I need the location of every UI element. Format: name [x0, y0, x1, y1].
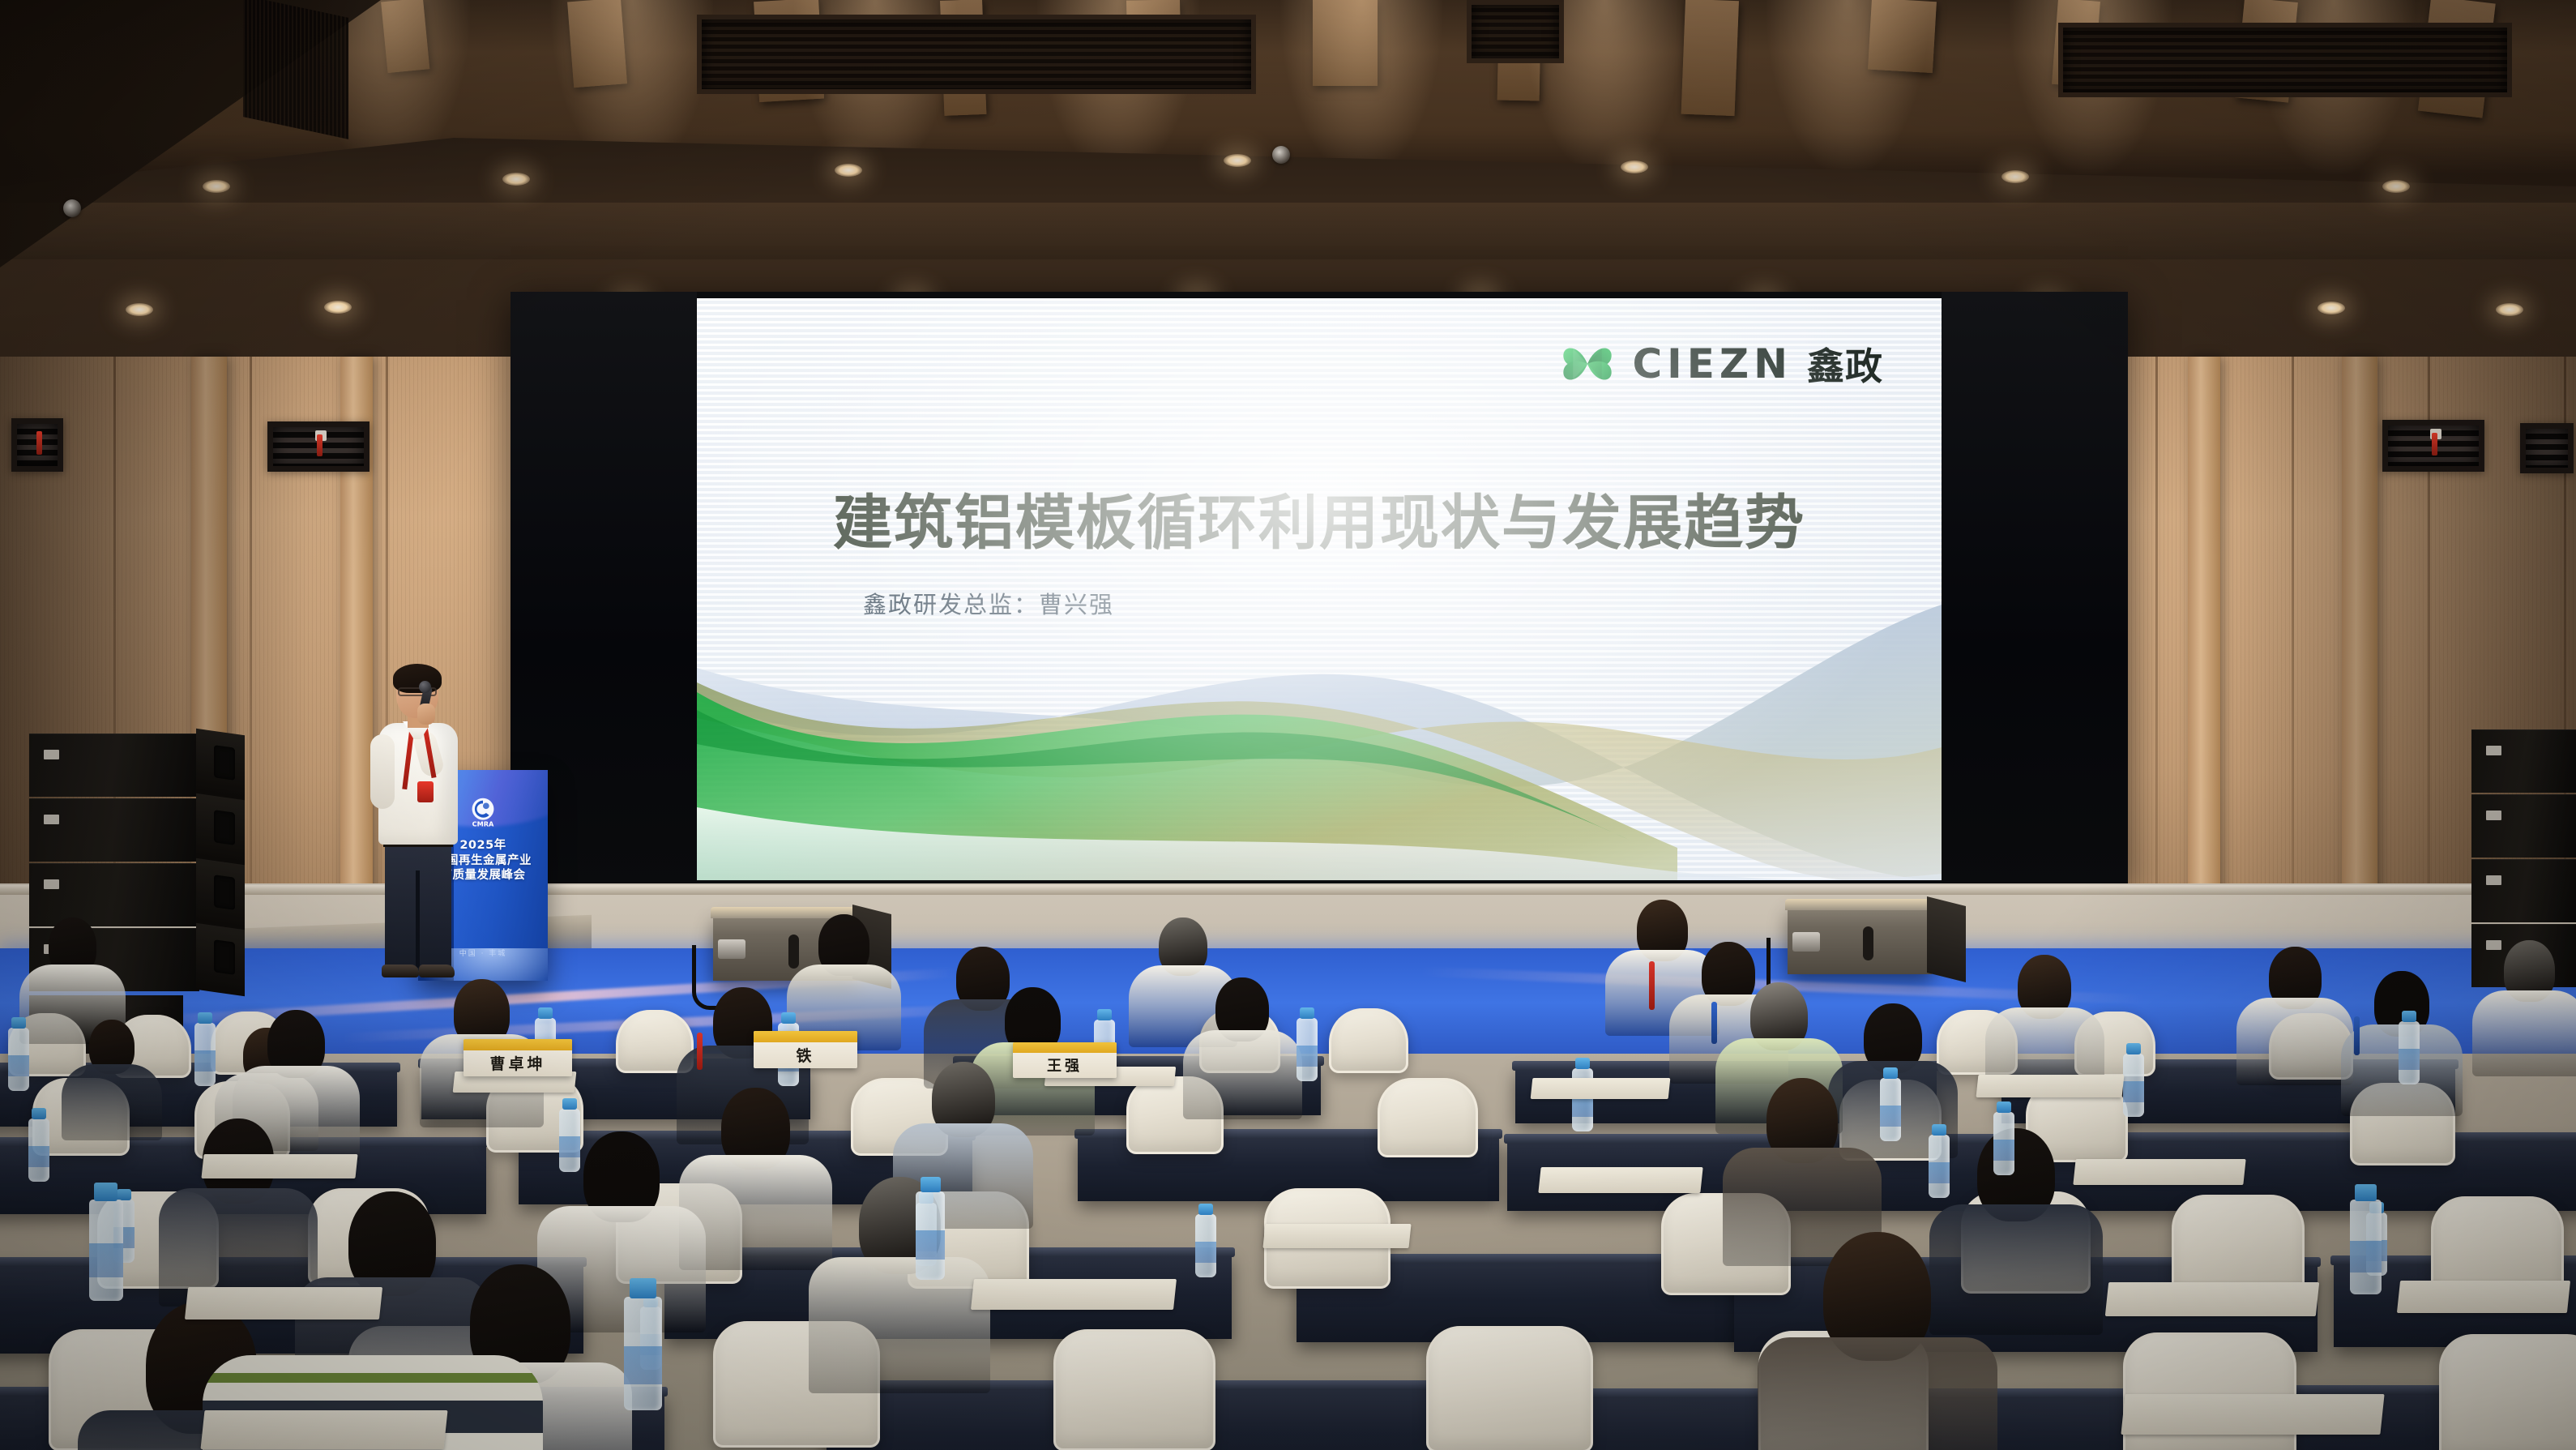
name-placard: 铁: [754, 1031, 857, 1068]
speaker-port: [214, 745, 235, 781]
audience-chair: [1378, 1078, 1478, 1157]
bottle-cap: [562, 1098, 577, 1110]
water-bottle: [1195, 1214, 1216, 1277]
vent-red-marker: [317, 434, 323, 456]
bottle-label: [194, 1050, 216, 1071]
ceiling-baffle: [1868, 0, 1937, 73]
wedge-side-panel: [1927, 896, 1966, 982]
bottle-label: [1297, 1046, 1318, 1067]
water-bottle: [1929, 1135, 1950, 1198]
bottle-label: [1993, 1140, 2014, 1161]
ceiling-baffle: [1313, 0, 1378, 86]
water-bottle: [1880, 1078, 1901, 1141]
bottle-cap: [198, 1012, 212, 1024]
line-array-box: [2471, 729, 2576, 793]
name-placard: 王强: [1013, 1042, 1117, 1078]
smoke-detector-icon: [1272, 146, 1290, 164]
bottle-label: [2399, 1049, 2420, 1070]
slide-title: 建筑铝模板循环利用现状与发展趋势: [697, 475, 1942, 561]
speaker-brand-badge: [2486, 940, 2501, 950]
presenter-person: [369, 668, 466, 984]
bottle-cap: [2402, 1011, 2416, 1022]
placard-name: 曹卓坤: [464, 1052, 572, 1074]
audience-person-shoulders: [809, 1257, 990, 1393]
speaker-port: [214, 875, 235, 910]
bottle-label: [8, 1055, 29, 1076]
ceiling-side-vent: [243, 0, 348, 139]
bottle-cap: [2355, 1184, 2377, 1201]
water-bottle: [1993, 1112, 2014, 1175]
ceiling-downlight: [126, 303, 153, 316]
audience-person-shoulders: [1758, 1337, 1997, 1450]
stage-monitor-wedge: [1788, 906, 1932, 974]
wall-vent-panel: [11, 418, 63, 472]
ceiling-baffle: [381, 0, 429, 73]
placard-name: 铁: [754, 1044, 857, 1066]
wall-vent-panel: [2520, 423, 2574, 473]
audience-lanyard: [1649, 961, 1655, 1010]
bottle-cap: [538, 1007, 553, 1019]
ceiling-air-grille: [2058, 23, 2512, 97]
placard-name: 王强: [1013, 1054, 1117, 1076]
line-array-box: [2471, 794, 2576, 858]
bottle-cap: [117, 1189, 131, 1200]
speaker-port: [214, 810, 235, 845]
audience-chair: [1329, 1008, 1408, 1073]
bottle-label: [2123, 1081, 2144, 1102]
bottle-label: [916, 1230, 945, 1260]
placard-band: [754, 1031, 857, 1042]
name-placard: 曹卓坤: [464, 1039, 572, 1076]
ceiling-air-grille: [697, 15, 1256, 94]
table-paper: [2105, 1282, 2319, 1316]
ceiling-downlight: [2001, 170, 2029, 183]
water-bottle: [28, 1119, 49, 1182]
bottle-label: [1929, 1162, 1950, 1183]
table-paper: [1538, 1167, 1702, 1193]
ceiling-downlight: [502, 173, 530, 186]
vent-red-marker: [2432, 433, 2437, 456]
svg-text:CMRA: CMRA: [472, 819, 494, 828]
wedge-handle-slot: [1863, 926, 1873, 960]
audience-chair: [1426, 1326, 1593, 1450]
conference-hall-scene: CIEZN 鑫政 建筑铝模板循环利用现状与发展趋势 鑫政研发总监：曹兴强: [0, 0, 2576, 1450]
water-bottle: [2350, 1200, 2382, 1294]
table-paper: [185, 1287, 382, 1320]
bottle-cap: [2126, 1043, 2141, 1054]
bottle-cap: [1198, 1204, 1213, 1215]
slide-logo-chinese: 鑫政: [1807, 337, 1883, 391]
line-array-box: [29, 798, 199, 862]
table-paper: [2121, 1394, 2384, 1435]
bottle-cap: [1883, 1067, 1898, 1079]
ceiling-downlight: [2318, 302, 2345, 314]
bottle-cap: [781, 1012, 796, 1024]
bottle-cap: [1575, 1058, 1590, 1069]
bottle-label: [89, 1243, 123, 1277]
placard-band: [1013, 1042, 1117, 1053]
speaker-port: [214, 939, 235, 975]
microphone-head-icon: [419, 681, 431, 693]
audience-person-shoulders: [2472, 990, 2576, 1076]
ceiling-soffit-band: [0, 203, 2576, 259]
presenter-leg-split: [416, 870, 420, 968]
presenter-shoe: [382, 965, 419, 977]
line-array-box: [29, 734, 199, 797]
speaker-brand-badge: [2486, 875, 2501, 885]
ceiling-baffle: [1681, 0, 1739, 116]
ceiling-downlight: [2382, 180, 2410, 193]
audience-person-shoulders: [2236, 998, 2353, 1085]
slide-logo: CIEZN 鑫政: [1557, 334, 1883, 394]
audience-person-shoulders: [1929, 1204, 2103, 1335]
wall-vent-panel: [267, 421, 370, 472]
water-bottle: [624, 1297, 662, 1410]
table-paper: [2073, 1159, 2245, 1185]
audience-person-shoulders: [62, 1064, 163, 1140]
wedge-top-edge: [1785, 899, 1934, 910]
speaker-brand-badge: [44, 815, 59, 824]
audience-lanyard: [1711, 1002, 1717, 1044]
table-paper: [200, 1410, 447, 1449]
bottle-label: [1195, 1242, 1216, 1263]
table-paper: [1262, 1224, 1411, 1248]
table-paper: [201, 1154, 357, 1178]
bottle-cap: [11, 1017, 26, 1029]
bottle-label: [2350, 1241, 2382, 1272]
bottle-cap: [1300, 1007, 1314, 1019]
presenter-hand: [417, 704, 435, 725]
ceiling-baffle: [567, 0, 627, 88]
presentation-slide[interactable]: CIEZN 鑫政 建筑铝模板循环利用现状与发展趋势 鑫政研发总监：曹兴强: [697, 298, 1942, 880]
table-paper: [971, 1279, 1177, 1310]
bottle-label: [28, 1146, 49, 1167]
bottle-label: [1880, 1106, 1901, 1127]
speaker-brand-badge: [44, 879, 59, 889]
water-bottle: [89, 1200, 123, 1301]
wedge-handle-slot: [788, 935, 799, 969]
bottle-cap: [32, 1108, 46, 1119]
ceiling-air-grille: [1467, 0, 1564, 63]
audience-chair: [1053, 1329, 1215, 1450]
slide-logo-latin: CIEZN: [1632, 340, 1792, 387]
slide-wave-graphic: [697, 605, 1942, 880]
water-bottle: [2123, 1054, 2144, 1117]
smoke-detector-icon: [63, 199, 81, 217]
bottle-label: [624, 1346, 662, 1384]
table-paper: [2397, 1281, 2570, 1313]
table-paper: [1531, 1078, 1671, 1099]
ciezn-pinwheel-logo-icon: [1557, 334, 1617, 394]
presenter-badge: [417, 781, 434, 802]
water-bottle: [194, 1023, 216, 1086]
water-bottle: [8, 1028, 29, 1091]
audience-lanyard: [2354, 1016, 2360, 1055]
bottle-cap: [1932, 1124, 1946, 1136]
audience-person-shoulders: [1183, 1030, 1302, 1119]
speaker-brand-badge: [44, 750, 59, 759]
water-bottle: [1297, 1018, 1318, 1081]
table-paper: [1976, 1075, 2125, 1097]
placard-band: [464, 1039, 572, 1050]
audience-chair: [2439, 1334, 2576, 1450]
bottle-cap: [94, 1183, 117, 1200]
speaker-brand-badge: [2486, 746, 2501, 755]
bottle-cap: [921, 1177, 941, 1193]
bottle-cap: [1997, 1101, 2011, 1113]
speaker-brand-badge: [2486, 811, 2501, 820]
vent-red-marker: [36, 431, 42, 455]
line-array-box: [29, 863, 199, 926]
bottle-cap: [630, 1278, 656, 1298]
line-array-box: [2471, 859, 2576, 922]
bottle-cap: [1097, 1009, 1112, 1020]
presentation-led-wall[interactable]: CIEZN 鑫政 建筑铝模板循环利用现状与发展趋势 鑫政研发总监：曹兴强: [511, 292, 2128, 888]
water-bottle: [2399, 1021, 2420, 1084]
bottle-label: [559, 1136, 580, 1157]
presenter-shoe: [419, 965, 455, 977]
wall-vent-panel: [2382, 420, 2484, 472]
water-bottle: [559, 1109, 580, 1172]
audience-lanyard: [697, 1033, 703, 1070]
ceiling-downlight: [203, 180, 230, 193]
presenter-left-arm: [370, 734, 395, 809]
water-bottle: [916, 1191, 945, 1280]
ceiling-downlight: [1621, 160, 1648, 173]
cmra-logo-icon: CMRA: [464, 793, 502, 832]
